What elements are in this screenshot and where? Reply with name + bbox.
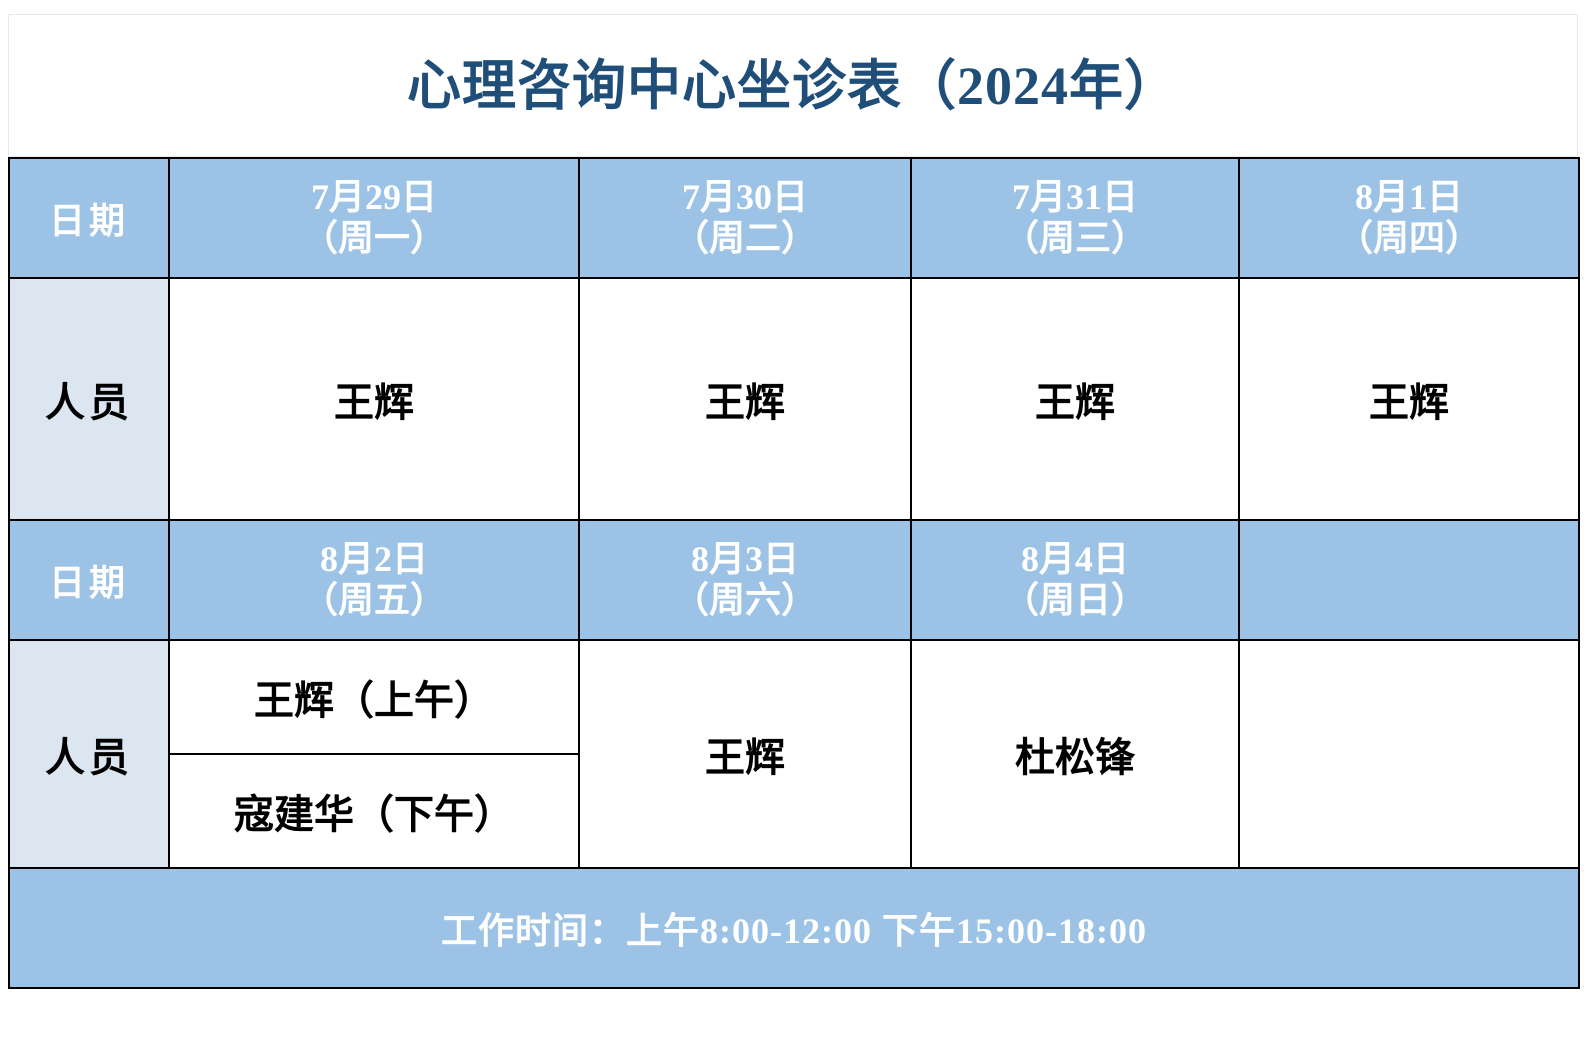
row-label-date-week2: 日期: [9, 520, 169, 640]
date-text: 8月3日: [580, 539, 910, 580]
date-cell-w2-d4-empty[interactable]: [1239, 520, 1579, 640]
page-title: 心理咨询中心坐诊表（2024年）: [407, 59, 1179, 113]
date-text: 8月4日: [912, 539, 1238, 580]
weekday-text: （周日）: [912, 580, 1238, 621]
date-text: 7月29日: [170, 177, 578, 218]
schedule-sheet: 心理咨询中心坐诊表（2024年） 日期 7月29日 （周一） 7月30日 （周二…: [0, 0, 1586, 1046]
date-text: 8月1日: [1240, 177, 1578, 218]
person-cell-w1-d4[interactable]: 王辉: [1239, 278, 1579, 520]
weekday-text: （周三）: [912, 218, 1238, 259]
date-cell-w1-d4[interactable]: 8月1日 （周四）: [1239, 158, 1579, 278]
person-cell-w2-d3[interactable]: 杜松锋: [911, 640, 1239, 868]
weekday-text: （周二）: [580, 218, 910, 259]
date-cell-w1-d2[interactable]: 7月30日 （周二）: [579, 158, 911, 278]
person-cell-w2-d1-split: 王辉（上午） 寇建华（下午）: [169, 640, 579, 868]
table-row-footer: 工作时间：上午8:00-12:00 下午15:00-18:00: [9, 868, 1579, 988]
date-text: 8月2日: [170, 539, 578, 580]
schedule-table: 日期 7月29日 （周一） 7月30日 （周二） 7月31日 （周三） 8月1日…: [8, 157, 1580, 989]
date-cell-w2-d3[interactable]: 8月4日 （周日）: [911, 520, 1239, 640]
working-hours-note: 工作时间：上午8:00-12:00 下午15:00-18:00: [9, 868, 1579, 988]
date-cell-w1-d1[interactable]: 7月29日 （周一）: [169, 158, 579, 278]
table-row-week1-people: 人员 王辉 王辉 王辉 王辉: [9, 278, 1579, 520]
table-row-week2-dates: 日期 8月2日 （周五） 8月3日 （周六） 8月4日 （周日）: [9, 520, 1579, 640]
row-label-person-week1: 人员: [9, 278, 169, 520]
weekday-text: （周六）: [580, 580, 910, 621]
person-cell-w1-d3[interactable]: 王辉: [911, 278, 1239, 520]
person-cell-w1-d1[interactable]: 王辉: [169, 278, 579, 520]
table-row-week1-dates: 日期 7月29日 （周一） 7月30日 （周二） 7月31日 （周三） 8月1日…: [9, 158, 1579, 278]
person-cell-w2-d1-morning[interactable]: 王辉（上午）: [170, 641, 578, 755]
date-text: 7月31日: [912, 177, 1238, 218]
weekday-text: （周一）: [170, 218, 578, 259]
table-row-week2-people: 人员 王辉（上午） 寇建华（下午） 王辉 杜松锋: [9, 640, 1579, 868]
date-cell-w2-d2[interactable]: 8月3日 （周六）: [579, 520, 911, 640]
split-container: 王辉（上午） 寇建华（下午）: [170, 641, 578, 867]
date-text: 7月30日: [580, 177, 910, 218]
person-cell-w2-d1-afternoon[interactable]: 寇建华（下午）: [170, 755, 578, 867]
date-cell-w1-d3[interactable]: 7月31日 （周三）: [911, 158, 1239, 278]
title-band: 心理咨询中心坐诊表（2024年）: [8, 14, 1578, 157]
person-cell-w2-d2[interactable]: 王辉: [579, 640, 911, 868]
row-label-person-week2: 人员: [9, 640, 169, 868]
weekday-text: （周五）: [170, 580, 578, 621]
person-cell-w2-d4-empty[interactable]: [1239, 640, 1579, 868]
row-label-date-week1: 日期: [9, 158, 169, 278]
date-cell-w2-d1[interactable]: 8月2日 （周五）: [169, 520, 579, 640]
weekday-text: （周四）: [1240, 218, 1578, 259]
person-cell-w1-d2[interactable]: 王辉: [579, 278, 911, 520]
